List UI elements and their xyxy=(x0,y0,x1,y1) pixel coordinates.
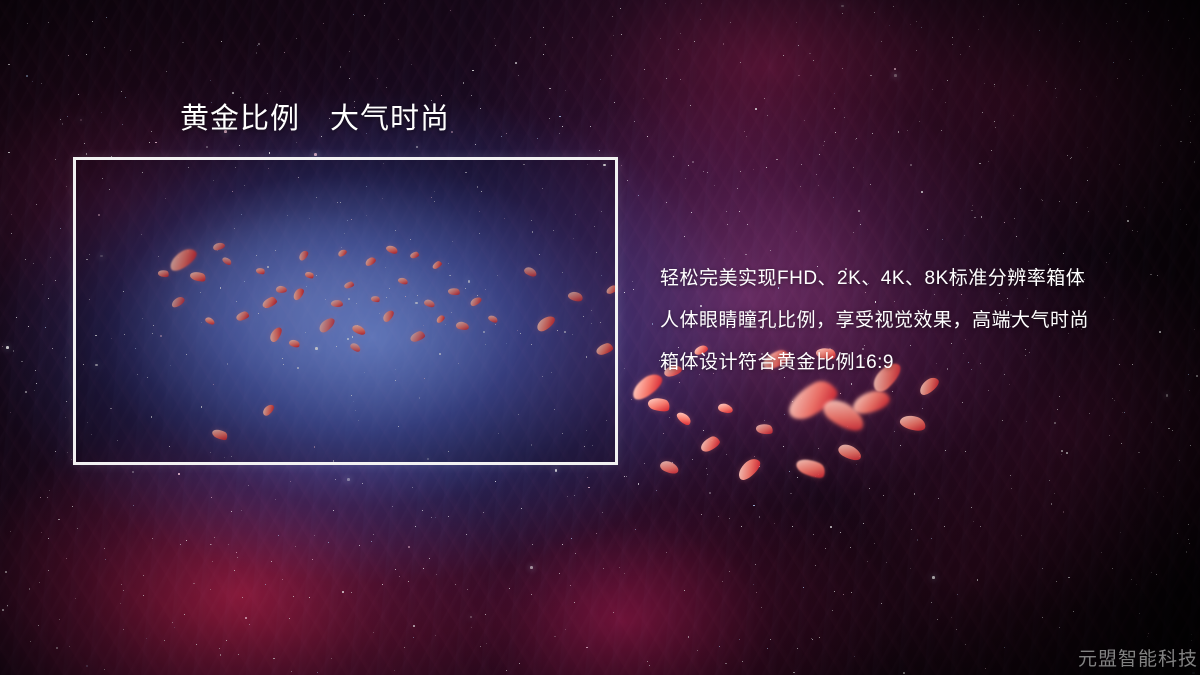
petal xyxy=(735,455,764,482)
petal xyxy=(819,393,868,437)
feature-list: 轻松完美实现FHD、2K、4K、8K标准分辨率箱体 人体眼睛瞳孔比例，享受视觉效… xyxy=(660,258,1180,384)
petal xyxy=(755,422,774,435)
feature-line: 箱体设计符合黄金比例16:9 xyxy=(660,342,1180,384)
petal xyxy=(698,434,721,454)
watermark: 元盟智能科技 xyxy=(1078,644,1198,671)
display-panel xyxy=(73,157,618,465)
petal xyxy=(850,388,892,417)
feature-line: 轻松完美实现FHD、2K、4K、8K标准分辨率箱体 xyxy=(660,258,1180,300)
feature-line: 人体眼睛瞳孔比例，享受视觉效果，高端大气时尚 xyxy=(660,300,1180,342)
petal xyxy=(898,412,927,433)
display-panel-shade xyxy=(76,160,615,462)
petal xyxy=(659,458,681,477)
petal xyxy=(717,402,734,416)
petal xyxy=(647,395,672,414)
slide-canvas: 黄金比例 大气时尚 轻松完美实现FHD、2K、4K、8K标准分辨率箱体 人体眼睛… xyxy=(0,0,1200,675)
petal xyxy=(836,441,863,464)
display-panel-screen xyxy=(76,160,615,462)
petal xyxy=(794,455,828,482)
page-title: 黄金比例 大气时尚 xyxy=(180,101,450,137)
petal xyxy=(675,410,693,428)
